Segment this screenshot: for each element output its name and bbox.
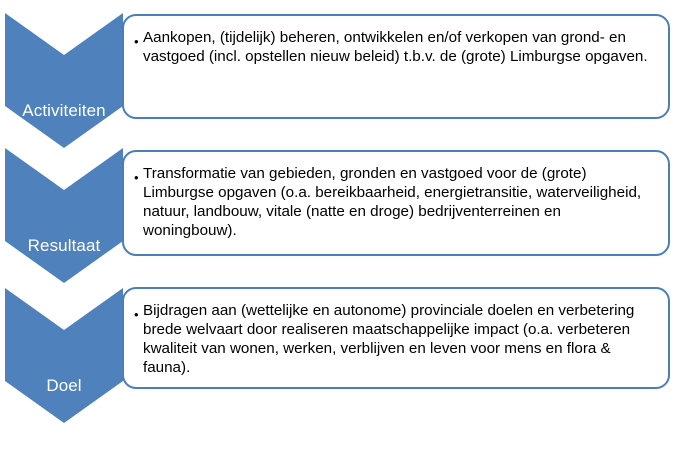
- bullet-list-item: • Transformatie van gebieden, gronden en…: [124, 152, 668, 240]
- chevron-icon: [5, 148, 123, 283]
- bullet-point-icon: •: [134, 308, 143, 321]
- callout-text-resultaat: Transformatie van gebieden, gronden en v…: [143, 164, 654, 240]
- vertical-chevron-list-diagram: Activiteiten • Aankopen, (tijdelijk) beh…: [0, 0, 683, 449]
- chevron-shape-activiteiten[interactable]: Activiteiten: [5, 13, 123, 148]
- callout-box-activiteiten[interactable]: • Aankopen, (tijdelijk) beheren, ontwikk…: [122, 14, 670, 119]
- bullet-list-item: • Bijdragen aan (wettelijke en autonome)…: [124, 289, 668, 377]
- bullet-point-icon: •: [134, 171, 143, 184]
- callout-text-activiteiten: Aankopen, (tijdelijk) beheren, ontwikkel…: [143, 28, 654, 66]
- bullet-list-item: • Aankopen, (tijdelijk) beheren, ontwikk…: [124, 16, 668, 66]
- callout-text-doel: Bijdragen aan (wettelijke en autonome) p…: [143, 301, 654, 377]
- chevron-shape-resultaat[interactable]: Resultaat: [5, 148, 123, 283]
- bullet-point-icon: •: [134, 35, 143, 48]
- chevron-shape-doel[interactable]: Doel: [5, 288, 123, 423]
- callout-box-resultaat[interactable]: • Transformatie van gebieden, gronden en…: [122, 150, 670, 256]
- chevron-icon: [5, 13, 123, 148]
- chevron-icon: [5, 288, 123, 423]
- callout-box-doel[interactable]: • Bijdragen aan (wettelijke en autonome)…: [122, 287, 670, 389]
